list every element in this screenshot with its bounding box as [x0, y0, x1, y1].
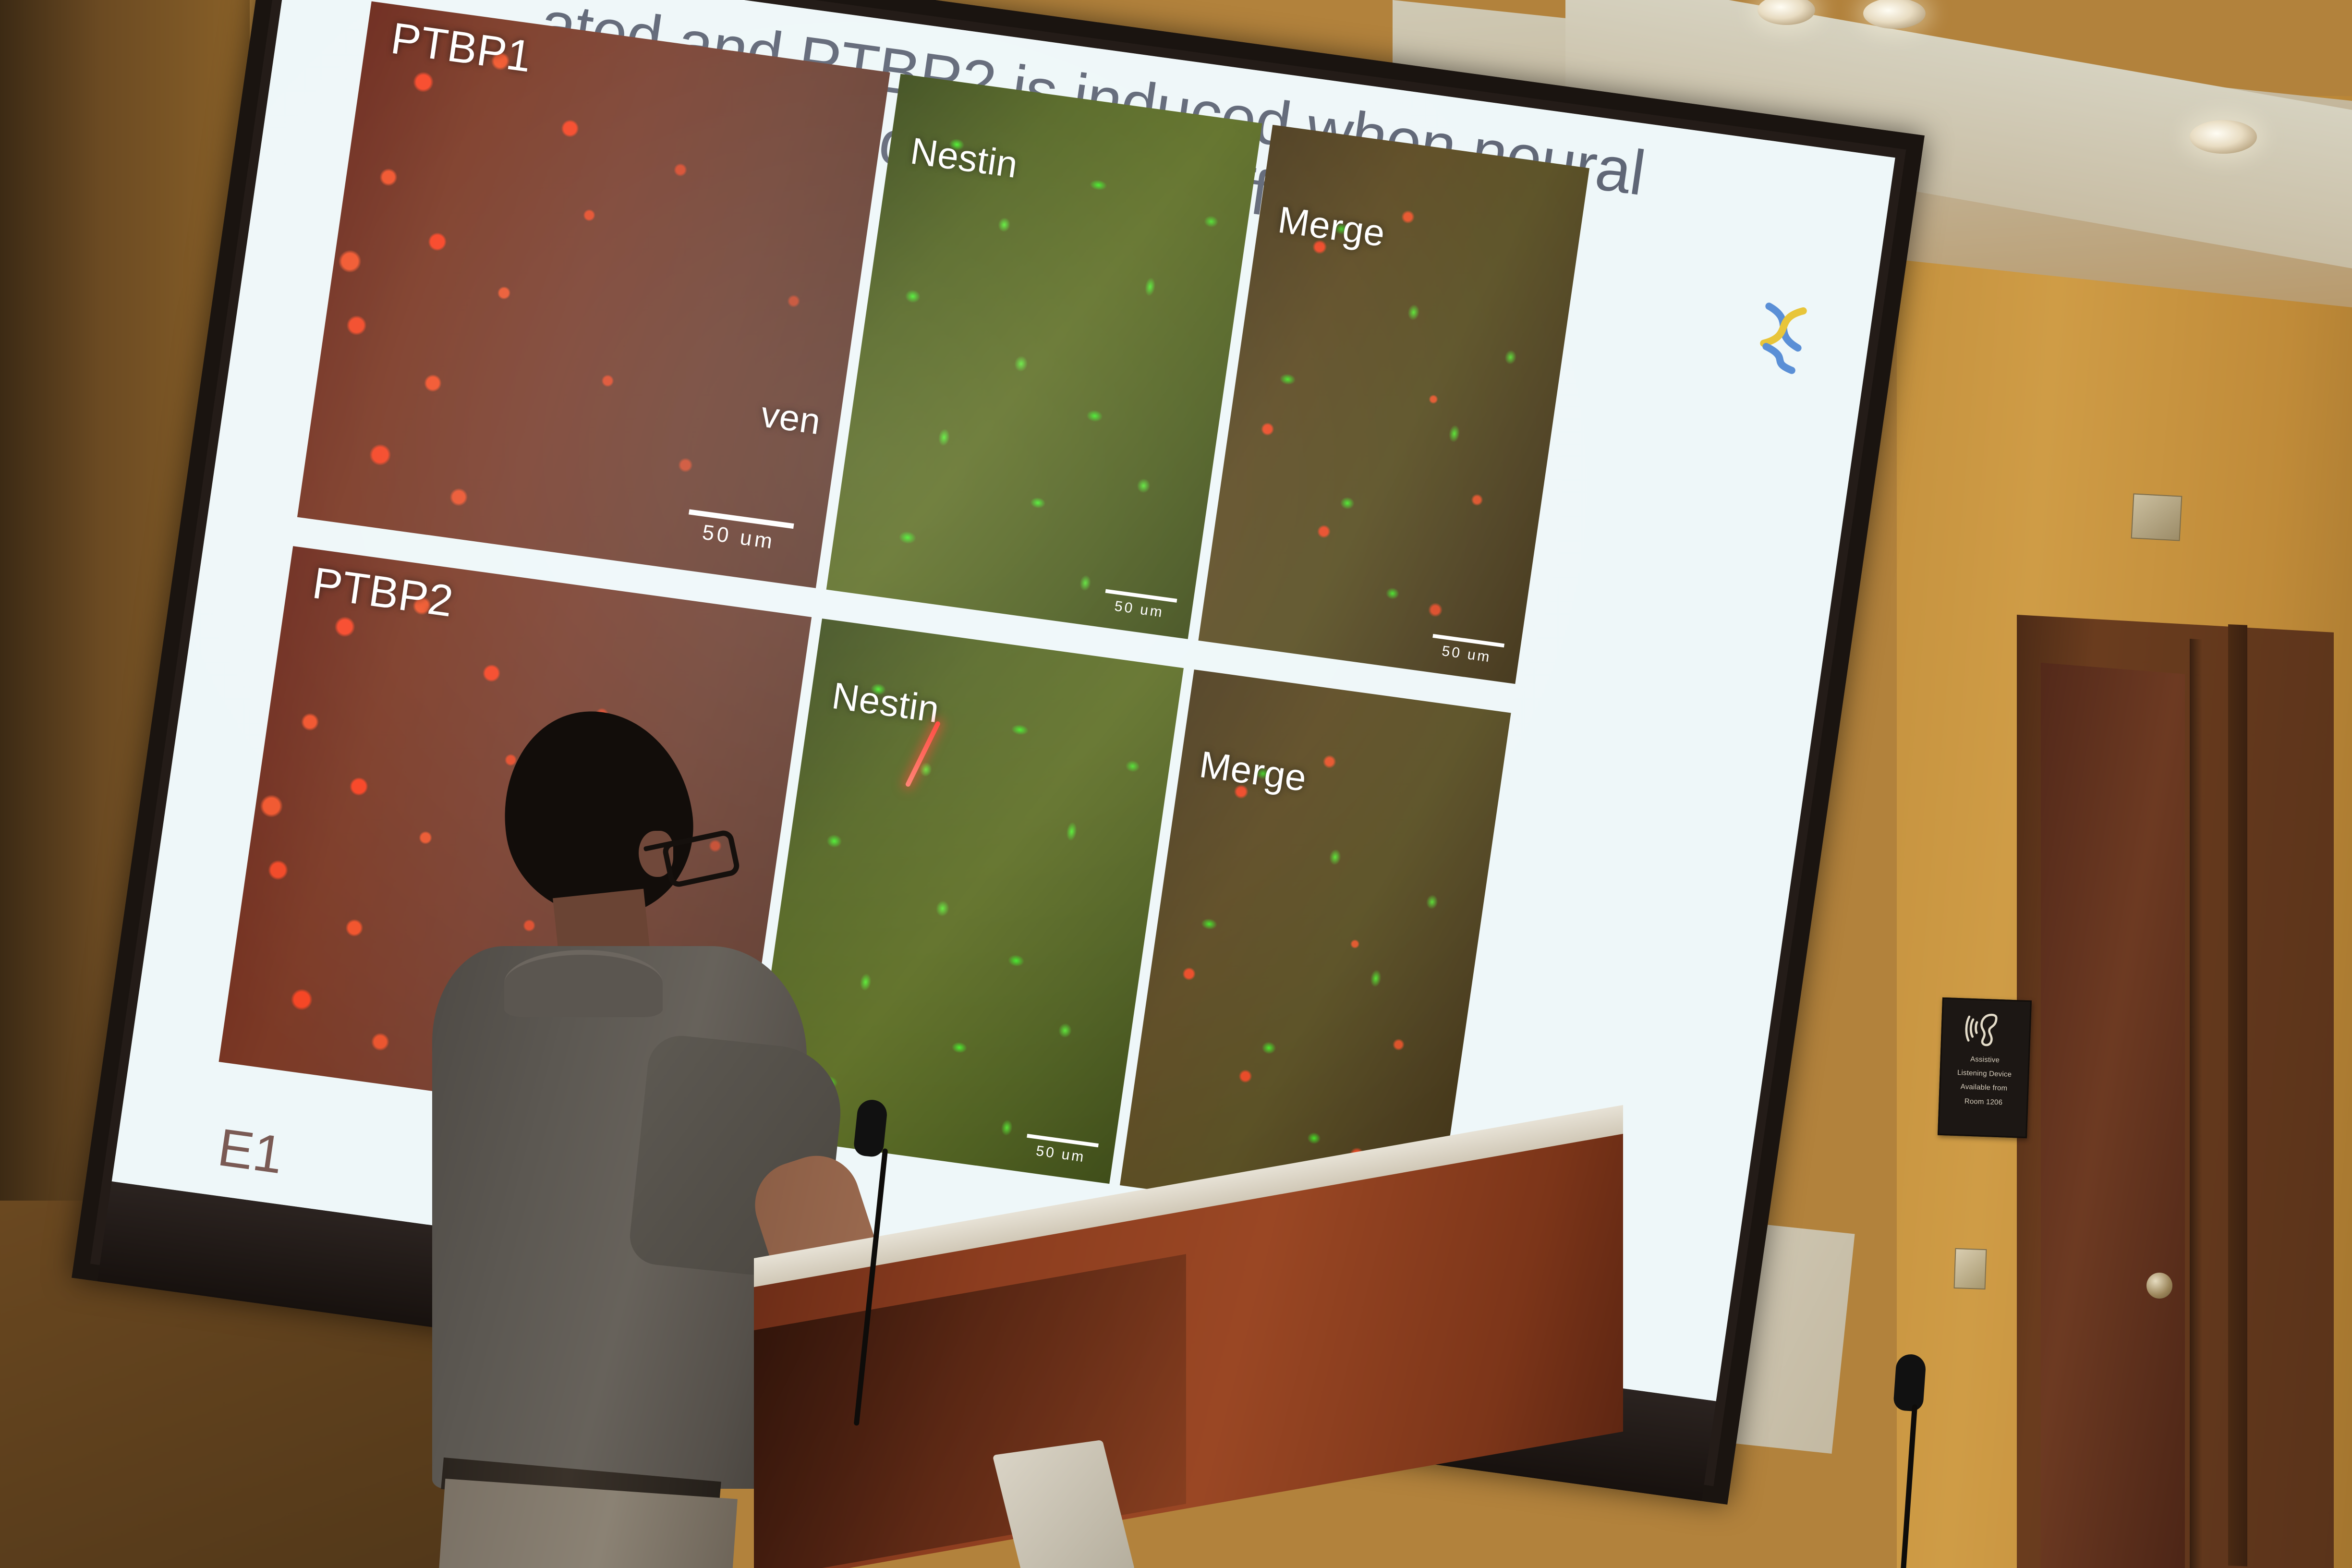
sign-line-3: Available from [1956, 1082, 2011, 1093]
door-knob[interactable] [2146, 1273, 2172, 1299]
ceiling-light-icon [1863, 0, 1926, 29]
microphone-head-icon [1893, 1353, 1927, 1412]
door-gap [2190, 639, 2202, 1568]
slide-footer-label: E1 [214, 1117, 287, 1186]
scale-bar: 50 um [685, 509, 794, 556]
sign-line-4: Room 1206 [1961, 1096, 2007, 1107]
panel-merge-row1: Merge 50 um [1198, 125, 1589, 684]
panel-ptbp1: PTBP1 ven 50 um [297, 1, 890, 588]
panel-label-channel: PTBP1 [388, 13, 535, 83]
projection-screen-surface: ated and PTBP2 is induced when neural pr… [112, 0, 1895, 1401]
micrograph-grid: PTBP1 ven 50 um Nestin 50 um [219, 1, 1589, 1228]
sign-line-2: Listening Device [1953, 1068, 2016, 1080]
ceiling-light-icon [2190, 120, 2257, 154]
presentation-slide: ated and PTBP2 is induced when neural pr… [112, 0, 1895, 1401]
sign-line-1: Assistive [1966, 1055, 2004, 1065]
wall-outlet [1954, 1248, 1987, 1289]
wall-plate [2131, 493, 2182, 541]
assistive-listening-ear-icon [1964, 1008, 2008, 1051]
panel-label-channel: PTBP2 [309, 558, 456, 627]
assistive-listening-sign: Assistive Listening Device Available fro… [1938, 997, 2032, 1138]
podium [754, 1258, 1623, 1568]
panel-label-channel: Merge [1275, 198, 1388, 255]
screenshot-root: Assistive Listening Device Available fro… [0, 0, 2352, 1568]
panel-label-channel: Merge [1197, 742, 1309, 800]
scale-bar: 50 um [1103, 589, 1177, 623]
panel-nestin-row1: Nestin 50 um [826, 74, 1262, 639]
panel-label-channel: Nestin [829, 674, 942, 731]
presenter-collar [504, 950, 663, 1017]
panel-label-channel: Nestin [908, 129, 1020, 187]
wall-jamb [2228, 624, 2247, 1567]
panel-label-region: ven [758, 393, 823, 443]
scale-bar: 50 um [1024, 1134, 1099, 1167]
dna-helix-logo [1748, 299, 1815, 378]
room-door[interactable] [2041, 663, 2185, 1568]
scale-bar: 50 um [1430, 634, 1504, 668]
